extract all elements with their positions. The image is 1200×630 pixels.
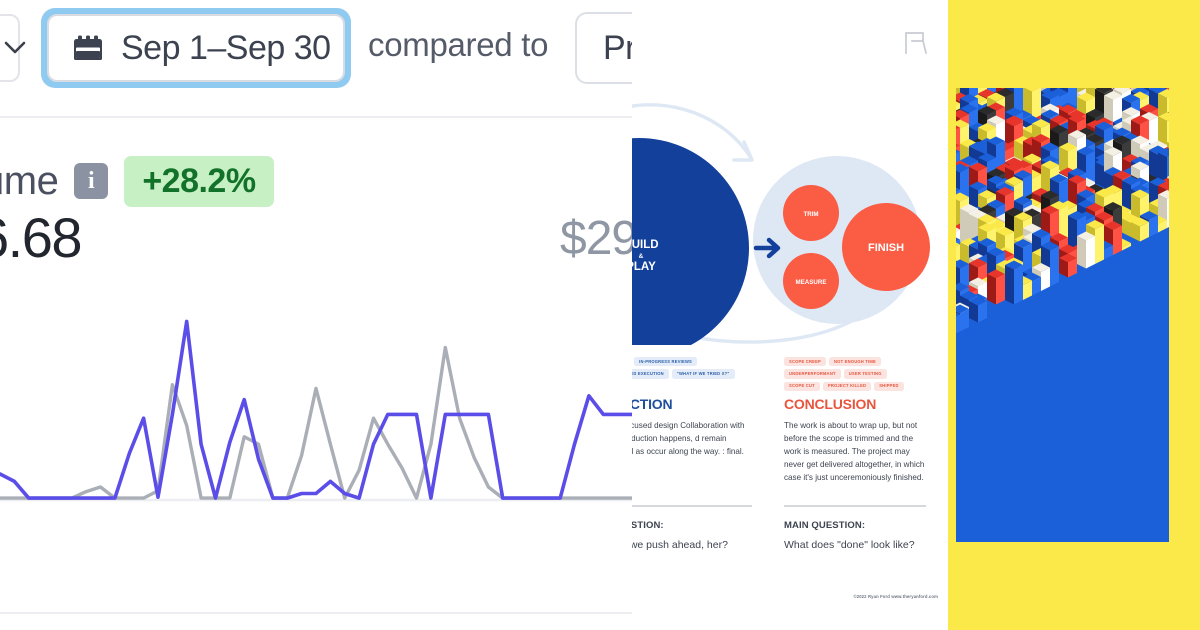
tag-chip: NOT ENOUGH TIME bbox=[829, 357, 881, 366]
tag-chip: USER TESTING bbox=[844, 369, 887, 378]
artwork-panel bbox=[948, 0, 1200, 630]
conclusion-heading: CONCLUSION bbox=[784, 396, 926, 412]
conclusion-tag-list: SCOPE CREEPNOT ENOUGH TIMEUNDERPERFORMAN… bbox=[784, 357, 922, 391]
play-label: PLAY bbox=[632, 261, 656, 273]
metric-title: ume bbox=[0, 159, 58, 204]
measure-label: MEASURE bbox=[796, 279, 827, 286]
divider-rule bbox=[784, 505, 926, 507]
metric-comparison-value: $29, bbox=[560, 211, 632, 266]
infographic-panel: BUILD & PLAY TRIM MEASURE FINISH KINGIN-… bbox=[632, 0, 948, 630]
tag-chip: IN-PROGRESS REVIEWS bbox=[634, 357, 697, 366]
tag-chip: PROJECT KILLED bbox=[823, 382, 871, 391]
isometric-pixel-city-illustration bbox=[948, 0, 1200, 630]
construction-heading: RUCTION bbox=[632, 396, 752, 412]
tag-chip: FOCUSED EXECUTION bbox=[632, 369, 669, 378]
metric-delta-badge: +28.2% bbox=[124, 156, 273, 207]
date-range-label: Sep 1–Sep 30 bbox=[121, 29, 331, 68]
metric-primary-value: 6.68 bbox=[0, 205, 81, 270]
comparison-period-select[interactable]: Pr bbox=[575, 12, 632, 84]
construction-question-block: QUESTION: can we push ahead, her? bbox=[632, 505, 752, 554]
conclusion-question-label: MAIN QUESTION: bbox=[784, 520, 926, 531]
panel-bottom-divider bbox=[0, 612, 632, 614]
line-chart-canvas bbox=[0, 300, 632, 530]
construction-question-text: can we push ahead, her? bbox=[632, 538, 752, 554]
isometric-blocks bbox=[948, 27, 1200, 543]
analytics-toolbar: Sep 1–Sep 30 compared to Pr bbox=[0, 0, 632, 100]
tag-chip: SCOPE CUT bbox=[784, 382, 820, 391]
conclusion-column: CONCLUSION The work is about to wrap up,… bbox=[784, 396, 926, 485]
conclusion-question-block: MAIN QUESTION: What does "done" look lik… bbox=[784, 505, 926, 554]
conclusion-question-text: What does "done" look like? bbox=[784, 538, 926, 554]
info-icon[interactable]: i bbox=[74, 163, 108, 199]
date-range-focus-ring: Sep 1–Sep 30 bbox=[41, 8, 351, 88]
construction-body: ge, focused design Collaboration with or… bbox=[632, 419, 752, 458]
conclusion-body: The work is about to wrap up, but not be… bbox=[784, 419, 926, 485]
tag-chip: "WHAT IF WE TRIED X?" bbox=[672, 369, 735, 378]
metric-header-row: ume i +28.2% bbox=[0, 152, 632, 210]
construction-question-label: QUESTION: bbox=[632, 520, 752, 531]
comparison-period-label: Pr bbox=[603, 29, 632, 68]
divider-rule bbox=[632, 505, 752, 507]
tag-chip: SCOPE CREEP bbox=[784, 357, 826, 366]
chart-series-current bbox=[0, 321, 632, 498]
build-play-finish-diagram: BUILD & PLAY TRIM MEASURE FINISH bbox=[632, 80, 948, 345]
metric-values-row: 6.68 $29, bbox=[0, 205, 632, 269]
calendar-icon bbox=[71, 32, 105, 64]
date-range-picker-button[interactable]: Sep 1–Sep 30 bbox=[47, 14, 345, 82]
compared-to-label: compared to bbox=[368, 26, 548, 64]
construction-tag-list: KINGIN-PROGRESS REVIEWSFOCUSED EXECUTION… bbox=[632, 357, 748, 379]
trim-label: TRIM bbox=[803, 211, 818, 218]
toolbar-divider bbox=[0, 116, 632, 118]
copyright-notice: ©2022 Ryan Ford www.theryanford.com bbox=[853, 594, 938, 599]
analytics-panel: Sep 1–Sep 30 compared to Pr ume i +28.2%… bbox=[0, 0, 632, 630]
ryan-ford-monogram-logo-icon bbox=[903, 30, 929, 56]
ampersand-label: & bbox=[639, 253, 644, 260]
tag-chip: SHIPPED bbox=[874, 382, 904, 391]
metric-line-chart[interactable] bbox=[0, 300, 632, 530]
finish-label: FINISH bbox=[868, 242, 904, 254]
build-label: BUILD bbox=[632, 239, 659, 251]
tag-chip: UNDERPERFORMANT bbox=[784, 369, 841, 378]
chevron-down-icon[interactable] bbox=[0, 32, 30, 62]
screenshot-root: Sep 1–Sep 30 compared to Pr ume i +28.2%… bbox=[0, 0, 1200, 630]
construction-column: RUCTION ge, focused design Collaboration… bbox=[632, 396, 752, 458]
chart-series-previous bbox=[0, 348, 632, 499]
